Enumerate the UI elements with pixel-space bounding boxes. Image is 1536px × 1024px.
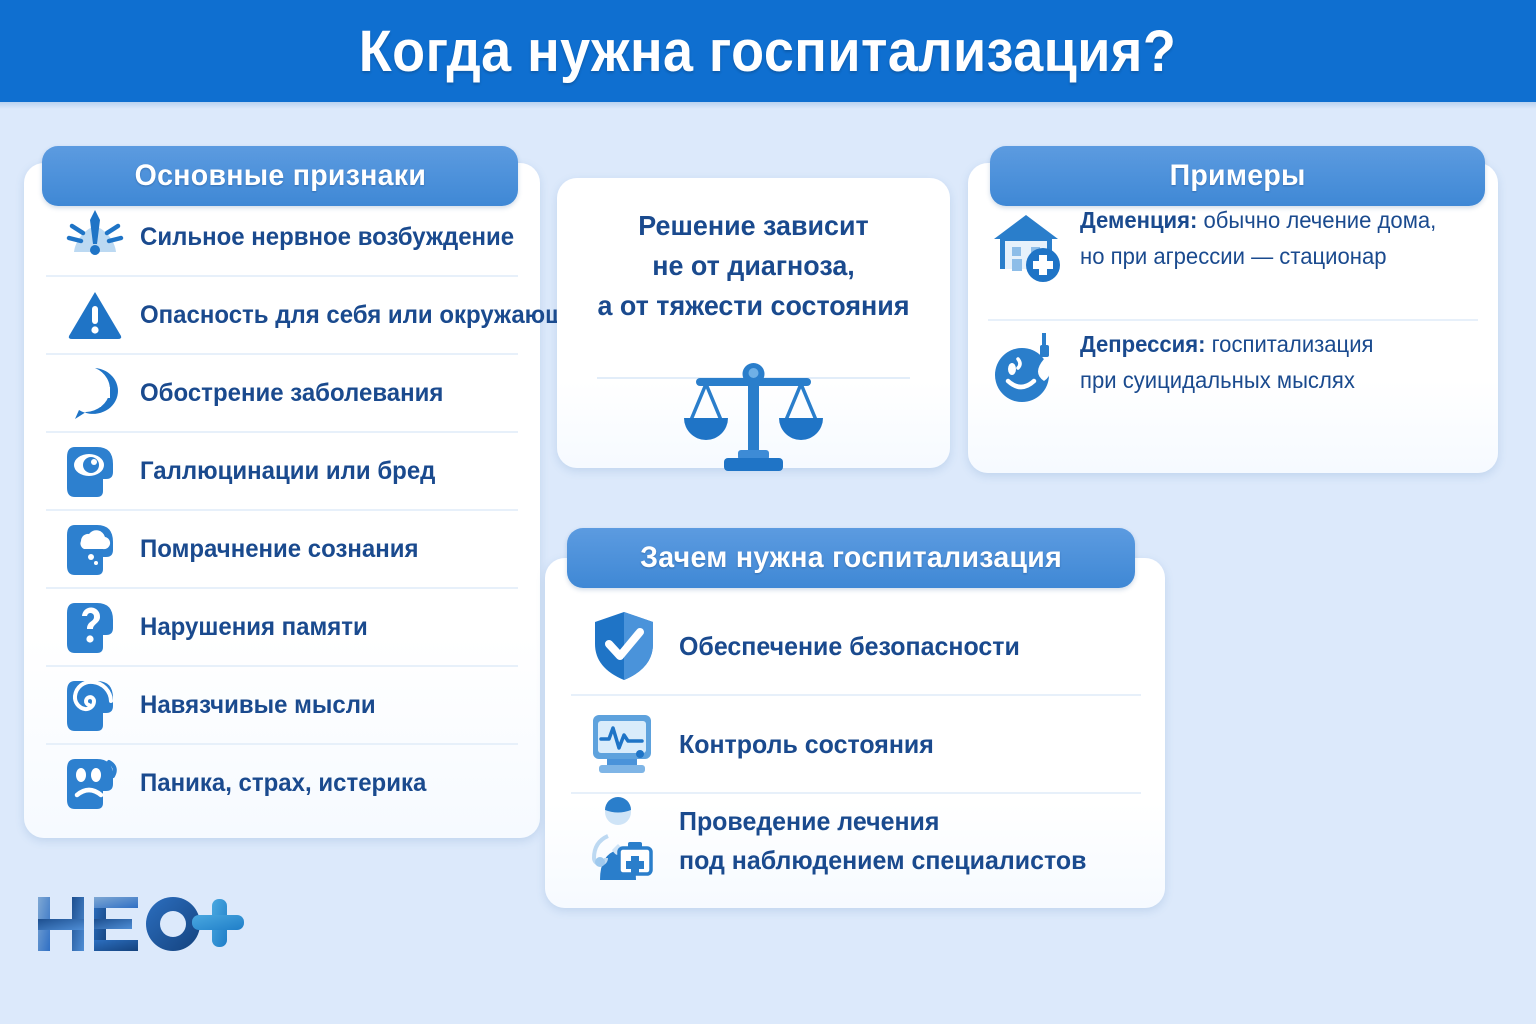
decision-quote-text: Решение зависит не от диагноза, а от тяж… xyxy=(565,206,942,325)
list-item-label: Проведение лечения под наблюдением специ… xyxy=(679,802,1086,880)
list-item[interactable]: Деменция: обычно лечение дома, но при аг… xyxy=(988,197,1478,321)
head-cloud-icon xyxy=(64,518,126,580)
list-item-label: Обострение заболевания xyxy=(140,380,443,406)
page-title: Когда нужна госпитализация? xyxy=(359,18,1177,85)
shield-check-icon xyxy=(587,609,661,683)
signs-list: Сильное нервное возбуждение Опасность дл… xyxy=(24,163,540,838)
list-item-label: Навязчивые мысли xyxy=(140,692,376,718)
example-term: Депрессия: xyxy=(1080,331,1205,357)
list-item-line-2: под наблюдением специалистов xyxy=(679,845,1086,875)
example-text: Деменция: обычно лечение дома, но при аг… xyxy=(1080,203,1436,274)
list-item[interactable]: Паника, страх, истерика xyxy=(46,745,518,821)
list-item[interactable]: Обеспечение безопасности xyxy=(571,598,1141,696)
list-item-label: Опасность для себя или окружающих xyxy=(140,302,594,328)
balance-scales-icon xyxy=(676,358,831,473)
list-item[interactable]: Опасность для себя или окружающих xyxy=(46,277,518,355)
list-item[interactable]: Депрессия: госпитализация при суицидальн… xyxy=(988,321,1478,443)
head-eye-icon xyxy=(64,440,126,502)
list-item-line-1: Проведение лечения xyxy=(679,806,939,836)
list-item-label: Контроль состояния xyxy=(679,725,934,764)
header-underline xyxy=(0,102,1536,109)
head-question-icon xyxy=(64,596,126,658)
list-item[interactable]: Проведение лечения под наблюдением специ… xyxy=(571,794,1141,898)
page-header: Когда нужна госпитализация? xyxy=(0,0,1536,102)
list-item-label: Помрачнение сознания xyxy=(140,536,419,562)
list-item[interactable]: Навязчивые мысли xyxy=(46,667,518,745)
house-medical-icon xyxy=(988,203,1066,291)
sad-face-teardrop-icon xyxy=(988,327,1066,415)
quote-line-2: не от диагноза, xyxy=(565,246,942,286)
quote-line-1: Решение зависит xyxy=(565,206,942,246)
list-item-label: Нарушения памяти xyxy=(140,614,368,640)
head-spiral-icon xyxy=(64,674,126,736)
why-list: Обеспечение безопасности Контроль состоя… xyxy=(545,558,1165,908)
list-item[interactable]: Галлюцинации или бред xyxy=(46,433,518,511)
examples-list: Деменция: обычно лечение дома, но при аг… xyxy=(968,163,1498,473)
list-item-label: Сильное нервное возбуждение xyxy=(140,224,514,250)
example-detail: госпитализация xyxy=(1205,331,1373,357)
list-item-label: Паника, страх, истерика xyxy=(140,770,426,796)
list-item[interactable]: Контроль состояния xyxy=(571,696,1141,794)
quote-line-3: а от тяжести состояния xyxy=(565,286,942,326)
medical-cross-bubble-icon xyxy=(64,362,126,424)
head-panic-face-icon xyxy=(64,752,126,814)
list-item-label: Обеспечение безопасности xyxy=(679,627,1020,666)
list-item-label: Галлюцинации или бред xyxy=(140,458,435,484)
example-second-line: но при агрессии — стационар xyxy=(1080,243,1387,269)
example-term: Деменция: xyxy=(1080,207,1197,233)
list-item[interactable]: Помрачнение сознания xyxy=(46,511,518,589)
example-detail: обычно лечение дома, xyxy=(1197,207,1436,233)
vitals-monitor-icon xyxy=(587,707,661,781)
example-second-line: при суицидальных мыслях xyxy=(1080,367,1355,393)
warning-triangle-icon xyxy=(64,284,126,346)
list-item[interactable]: Обострение заболевания xyxy=(46,355,518,433)
example-text: Депрессия: госпитализация при суицидальн… xyxy=(1080,327,1373,398)
list-item[interactable]: Нарушения памяти xyxy=(46,589,518,667)
exclamation-burst-icon xyxy=(64,206,126,268)
list-item[interactable]: Сильное нервное возбуждение xyxy=(46,199,518,277)
neo-plus-logo xyxy=(36,893,246,955)
doctor-stethoscope-icon xyxy=(587,802,661,876)
